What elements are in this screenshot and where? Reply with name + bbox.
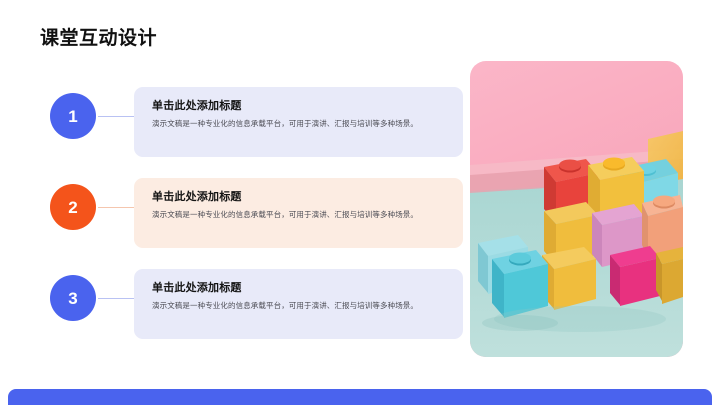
numbered-list: 1 单击此处添加标题 演示文稿是一种专业化的信息承载平台，可用于演讲、汇报与培训… <box>0 82 470 357</box>
page-title: 课堂互动设计 <box>40 28 157 51</box>
content-card[interactable]: 单击此处添加标题 演示文稿是一种专业化的信息承载平台，可用于演讲、汇报与培训等多… <box>134 87 463 157</box>
card-title: 单击此处添加标题 <box>152 190 445 204</box>
list-item[interactable]: 3 单击此处添加标题 演示文稿是一种专业化的信息承载平台，可用于演讲、汇报与培训… <box>0 269 470 345</box>
card-body-text: 演示文稿是一种专业化的信息承载平台，可用于演讲、汇报与培训等多种场景。 <box>152 300 445 312</box>
list-item[interactable]: 2 单击此处添加标题 演示文稿是一种专业化的信息承载平台，可用于演讲、汇报与培训… <box>0 178 470 254</box>
step-number-badge[interactable]: 3 <box>50 275 96 321</box>
bottom-accent-bar <box>8 389 712 405</box>
connector-stroke <box>98 207 134 208</box>
step-number-badge[interactable]: 2 <box>50 184 96 230</box>
slide-canvas: 课堂互动设计 1 单击此处添加标题 演示文稿是一种专业化的信息承载平台，可用于演… <box>0 0 720 405</box>
connector-stroke <box>98 116 134 117</box>
toy-building-blocks-photo <box>470 61 683 357</box>
content-card[interactable]: 单击此处添加标题 演示文稿是一种专业化的信息承载平台，可用于演讲、汇报与培训等多… <box>134 269 463 339</box>
card-body-text: 演示文稿是一种专业化的信息承载平台，可用于演讲、汇报与培训等多种场景。 <box>152 209 445 221</box>
content-card[interactable]: 单击此处添加标题 演示文稿是一种专业化的信息承载平台，可用于演讲、汇报与培训等多… <box>134 178 463 248</box>
step-number-badge[interactable]: 1 <box>50 93 96 139</box>
connector-stroke <box>98 298 134 299</box>
card-body-text: 演示文稿是一种专业化的信息承载平台，可用于演讲、汇报与培训等多种场景。 <box>152 118 445 130</box>
card-title: 单击此处添加标题 <box>152 99 445 113</box>
card-title: 单击此处添加标题 <box>152 281 445 295</box>
list-item[interactable]: 1 单击此处添加标题 演示文稿是一种专业化的信息承载平台，可用于演讲、汇报与培训… <box>0 87 470 163</box>
